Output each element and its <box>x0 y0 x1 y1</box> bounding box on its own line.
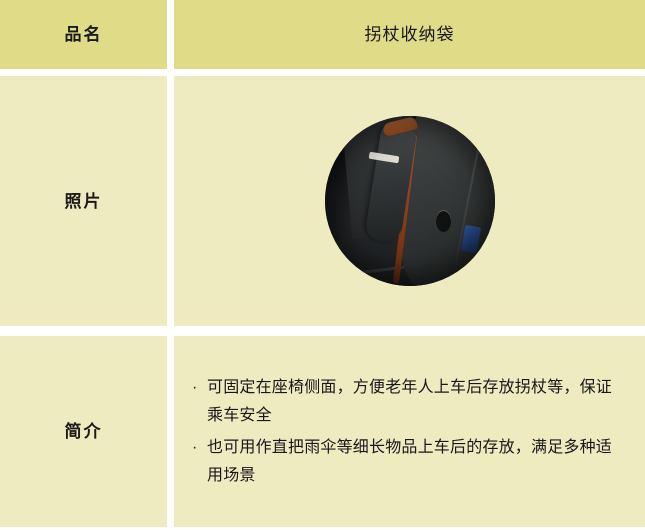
product-photo-cell <box>174 76 645 326</box>
table-row-product-name: 品名 拐杖收纳袋 <box>0 0 645 69</box>
description-cell: · 可固定在座椅侧面，方便老年人上车后存放拐杖等，保证乘车安全 · 也可用作直把… <box>174 336 645 527</box>
row-label-cell-photo: 照片 <box>0 76 167 326</box>
product-name-value-cell: 拐杖收纳袋 <box>174 0 645 69</box>
list-item: · 也可用作直把雨伞等细长物品上车后的存放，满足多种适用场景 <box>192 434 627 490</box>
list-item: · 可固定在座椅侧面，方便老年人上车后存放拐杖等，保证乘车安全 <box>192 374 627 430</box>
product-photo-circle <box>325 116 495 286</box>
description-text: 也可用作直把雨伞等细长物品上车后的存放，满足多种适用场景 <box>207 439 612 484</box>
description-list: · 可固定在座椅侧面，方便老年人上车后存放拐杖等，保证乘车安全 · 也可用作直把… <box>174 374 645 490</box>
row-label-cell-description: 简介 <box>0 336 167 527</box>
row-label-photo: 照片 <box>65 193 103 210</box>
product-spec-table: 品名 拐杖收纳袋 照片 <box>0 0 645 530</box>
bullet-marker-icon: · <box>192 374 198 402</box>
table-row-description: 简介 · 可固定在座椅侧面，方便老年人上车后存放拐杖等，保证乘车安全 · 也可用… <box>0 336 645 527</box>
description-text: 可固定在座椅侧面，方便老年人上车后存放拐杖等，保证乘车安全 <box>207 379 612 424</box>
bullet-marker-icon: · <box>192 434 198 462</box>
table-row-photo: 照片 <box>0 76 645 326</box>
row-label-description: 简介 <box>65 423 103 440</box>
row-label-cell-product-name: 品名 <box>0 0 167 69</box>
product-name-value: 拐杖收纳袋 <box>365 26 455 43</box>
photo-vignette <box>325 116 495 286</box>
row-label-product-name: 品名 <box>65 26 103 43</box>
